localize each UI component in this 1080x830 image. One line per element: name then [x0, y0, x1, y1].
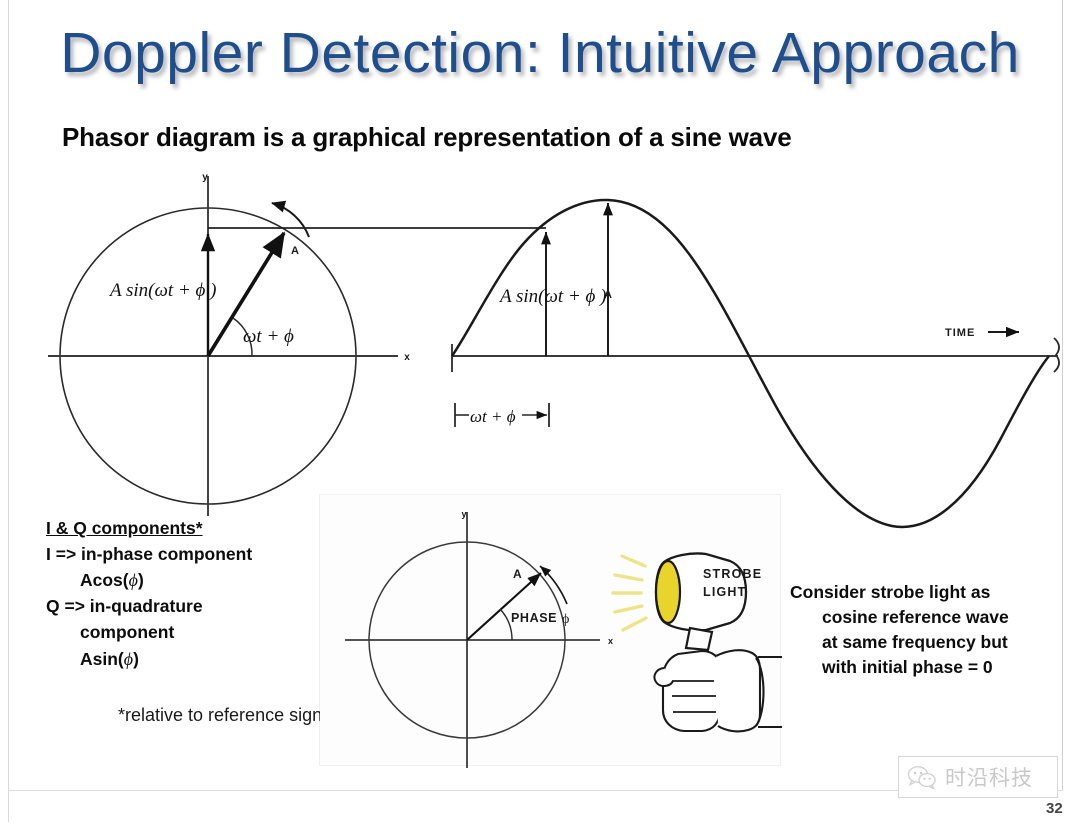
iq-line-i: I => in-phase component: [46, 542, 326, 568]
iq-line-q2: component: [46, 620, 326, 646]
sine-curve: [452, 200, 1049, 527]
asin-prefix: Asin(: [80, 649, 124, 669]
consider-line-3: at same frequency but: [790, 630, 1040, 655]
sine-amplitude-label: A: [604, 289, 612, 301]
page-number: 32: [1046, 800, 1063, 817]
phase-dimension-bracket: ωt + ϕ: [455, 403, 549, 427]
slide-subtitle: Phasor diagram is a graphical representa…: [62, 122, 791, 153]
time-label: TIME: [945, 327, 975, 339]
asin-phi: ϕ: [124, 649, 133, 669]
consider-line-2: cosine reference wave: [790, 605, 1040, 630]
phase-bracket-label: ωt + ϕ: [470, 407, 516, 426]
iq-components-block: I & Q components* I => in-phase componen…: [46, 516, 326, 672]
asin-suffix: ): [133, 649, 139, 669]
consider-line-1: Consider strobe light as: [790, 580, 1040, 605]
phasor-x-axis-label: x: [404, 352, 410, 363]
phasor-projection-label: A sin(ωt + ϕ ): [108, 280, 216, 301]
watermark-text: 时沿科技: [945, 762, 1033, 792]
sine-wave-group: A A sin(ωt + ϕ ) ωt + ϕ TIME: [452, 200, 1059, 527]
time-axis-label-group: TIME: [945, 327, 1019, 339]
phasor-angle-label: ωt + ϕ: [243, 326, 294, 347]
wechat-icon: [907, 765, 937, 789]
page-border-right: [1062, 0, 1063, 790]
phasor-angle-arc: [233, 318, 252, 356]
iq-heading: I & Q components*: [46, 516, 326, 542]
iq-line-acos: Acos(ϕ): [46, 567, 326, 594]
slide-title: Doppler Detection: Intuitive Approach: [0, 24, 1080, 84]
sine-projection-label: A sin(ωt + ϕ ): [498, 286, 606, 307]
acos-phi: ϕ: [129, 570, 138, 590]
acos-suffix: ): [138, 570, 144, 590]
iq-line-asin: Asin(ϕ): [46, 646, 326, 673]
iq-line-q1: Q => in-quadrature: [46, 594, 326, 620]
phasor-circle-group: y x A A sin(ωt + ϕ ) ωt + ϕ: [48, 172, 546, 516]
phasor-vector: [208, 233, 284, 356]
consider-strobe-text-block: Consider strobe light as cosine referenc…: [790, 580, 1040, 679]
rotation-direction-arrow: [272, 203, 309, 237]
slide-canvas: Doppler Detection: Intuitive Approach Ph…: [0, 0, 1080, 830]
phasor-vector-label: A: [291, 245, 299, 257]
watermark-box: 时沿科技: [898, 756, 1058, 798]
page-border-left: [8, 0, 9, 822]
consider-line-4: with initial phase = 0: [790, 655, 1040, 680]
iq-footnote: *relative to reference signal: [118, 705, 336, 726]
phasor-y-axis-label: y: [202, 172, 208, 183]
phasor-unit-circle: [60, 208, 356, 504]
strobe-light-panel: [320, 495, 780, 765]
sine-end-brace: [1054, 338, 1059, 372]
acos-prefix: Acos(: [80, 570, 129, 590]
